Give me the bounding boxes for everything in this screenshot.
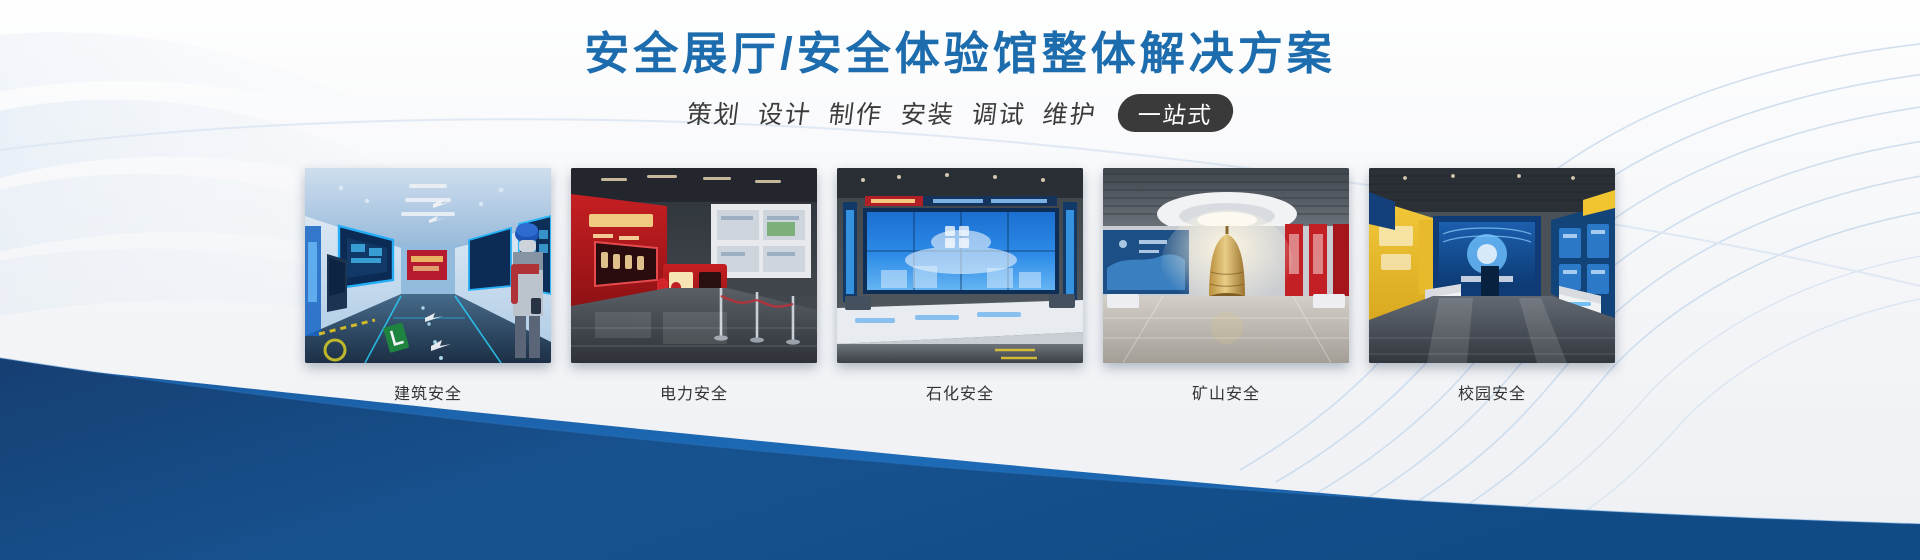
gallery-item-power[interactable]: 电力安全: [571, 168, 817, 404]
gallery-caption-petrochemical: 石化安全: [926, 380, 994, 404]
campus-safety-hall-image: [1369, 168, 1615, 363]
gallery-item-campus[interactable]: 校园安全: [1369, 168, 1615, 404]
exhibition-gallery: 建筑安全: [0, 168, 1920, 404]
gallery-item-construction[interactable]: 建筑安全: [305, 168, 551, 404]
gallery-caption-construction: 建筑安全: [394, 380, 462, 404]
gallery-thumbnail-construction[interactable]: [305, 168, 551, 363]
gallery-caption-power: 电力安全: [660, 380, 728, 404]
page-title: 安全展厅/安全体验馆整体解决方案: [0, 0, 1920, 82]
service-step-design: 设计: [756, 95, 814, 131]
service-step-maintenance: 维护: [1040, 95, 1098, 131]
power-safety-hall-image: [571, 168, 817, 363]
gallery-thumbnail-petrochemical[interactable]: [837, 168, 1083, 363]
gallery-item-petrochemical[interactable]: 石化安全: [837, 168, 1083, 404]
service-step-installation: 安装: [898, 95, 956, 131]
gallery-caption-mining: 矿山安全: [1192, 380, 1260, 404]
gallery-thumbnail-power[interactable]: [571, 168, 817, 363]
one-stop-badge: 一站式: [1115, 94, 1235, 132]
gallery-thumbnail-campus[interactable]: [1369, 168, 1615, 363]
headline-block: 安全展厅/安全体验馆整体解决方案 策划 设计 制作 安装 调试 维护 一站式: [0, 0, 1920, 132]
gallery-thumbnail-mining[interactable]: [1103, 168, 1349, 363]
mining-safety-hall-image: [1103, 168, 1349, 363]
safety-exhibition-banner: 安全展厅/安全体验馆整体解决方案 策划 设计 制作 安装 调试 维护 一站式: [0, 0, 1920, 560]
service-step-production: 制作: [827, 95, 885, 131]
service-step-debugging: 调试: [969, 95, 1027, 131]
petrochemical-safety-hall-image: [837, 168, 1083, 363]
gallery-item-mining[interactable]: 矿山安全: [1103, 168, 1349, 404]
gallery-caption-campus: 校园安全: [1458, 380, 1526, 404]
construction-safety-hall-image: [305, 168, 551, 363]
service-steps: 策划 设计 制作 安装 调试 维护 一站式: [0, 94, 1920, 132]
service-step-planning: 策划: [685, 95, 743, 131]
